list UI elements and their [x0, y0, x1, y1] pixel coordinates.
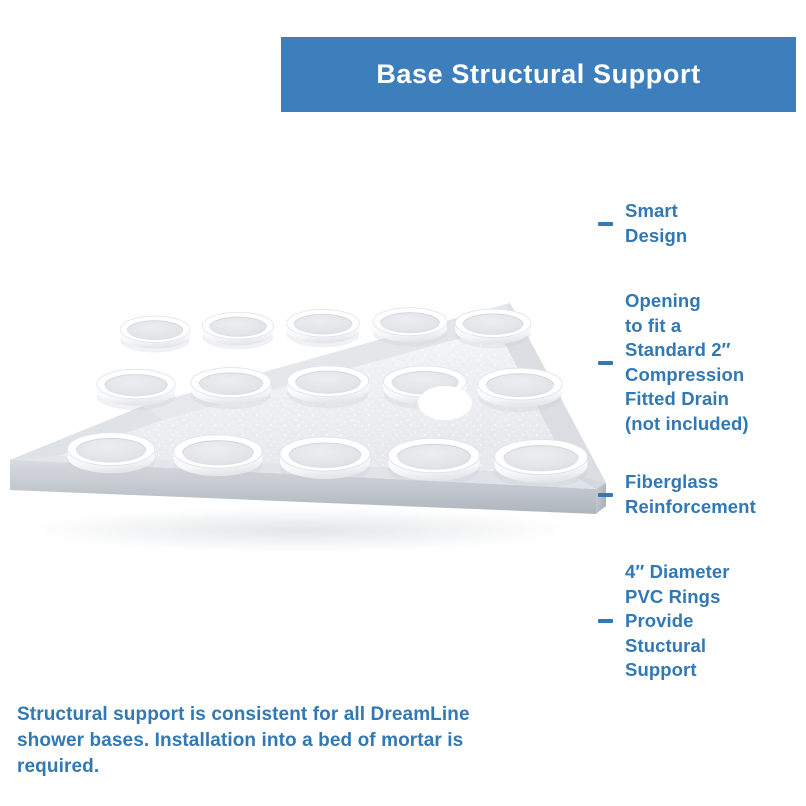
infographic-page: Base Structural Support [0, 0, 806, 806]
callout-drain-opening-label: Opening to fit a Standard 2″ Compression… [625, 289, 749, 436]
callout-fiberglass-label: Fiberglass Reinforcement [625, 470, 756, 519]
pvc-ring [120, 316, 190, 352]
pvc-ring [191, 368, 271, 410]
pvc-ring [455, 309, 530, 348]
product-illustration [0, 268, 610, 558]
pvc-ring [373, 308, 447, 347]
header-banner: Base Structural Support [281, 37, 796, 112]
pvc-ring [495, 439, 588, 488]
dash-marker-icon [598, 222, 613, 226]
callout-fiberglass-reinforcement: Fiberglass Reinforcement [598, 470, 756, 519]
drain-opening [418, 386, 472, 420]
dash-marker-icon [598, 493, 613, 497]
callout-smart-design-label: Smart Design [625, 199, 687, 248]
pvc-ring [287, 309, 360, 347]
callout-pvc-rings: 4″ Diameter PVC Rings Provide Stuctural … [598, 560, 730, 683]
page-title: Base Structural Support [376, 59, 700, 90]
pvc-ring [202, 312, 273, 349]
pvc-ring [478, 368, 562, 412]
pvc-ring [388, 438, 479, 486]
dash-marker-icon [598, 619, 613, 623]
pvc-ring [174, 435, 263, 481]
dash-marker-icon [598, 361, 613, 365]
product-shadow [25, 508, 575, 552]
callout-pvc-rings-label: 4″ Diameter PVC Rings Provide Stuctural … [625, 560, 730, 683]
pvc-ring [67, 433, 154, 478]
bottom-caption: Structural support is consistent for all… [17, 702, 537, 780]
pvc-ring [280, 437, 370, 484]
pvc-ring [97, 369, 175, 410]
pvc-ring [287, 366, 368, 408]
callout-smart-design: Smart Design [598, 199, 687, 248]
callout-drain-opening: Opening to fit a Standard 2″ Compression… [598, 289, 749, 436]
